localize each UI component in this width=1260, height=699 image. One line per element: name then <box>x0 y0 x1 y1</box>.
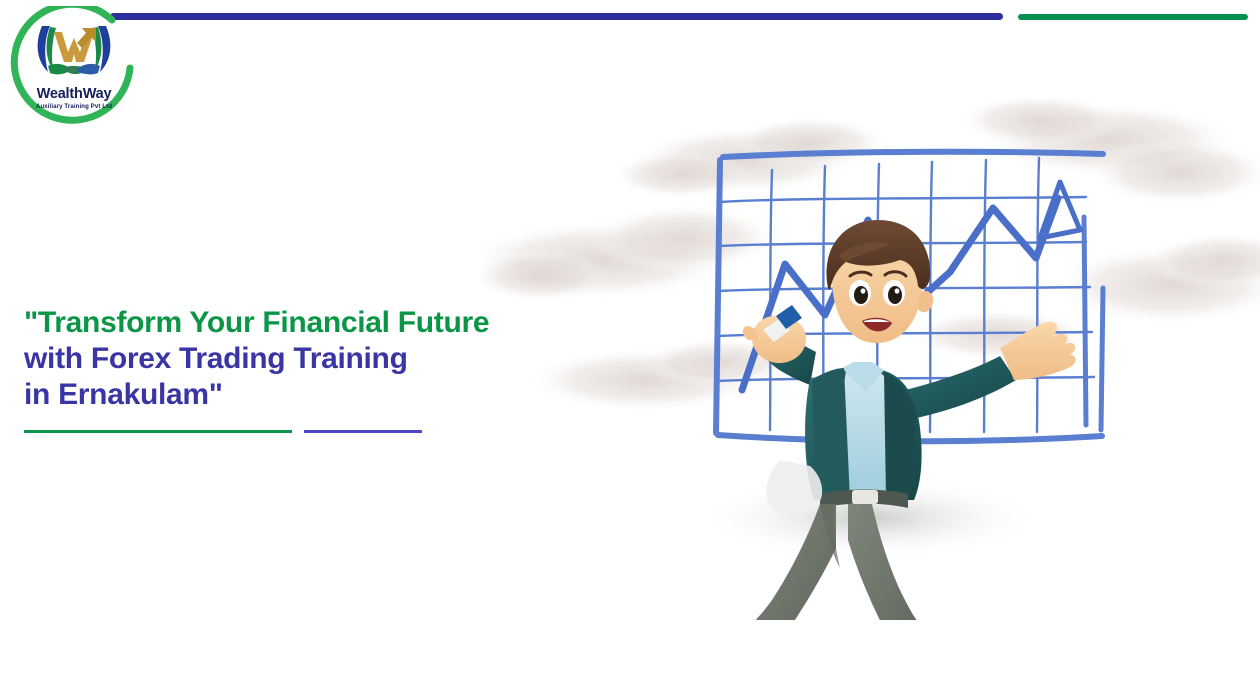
logo-tagline: Auxiliary Training Pvt Ltd <box>22 104 126 110</box>
top-rule-green <box>1018 14 1248 20</box>
logo-wordmark-part1: Wealth <box>37 86 83 102</box>
headline-line-3: in Ernakulam" <box>24 377 644 413</box>
underline-green <box>24 430 292 433</box>
logo-wordmark: WealthWay <box>22 87 126 102</box>
promo-banner: WealthWay Auxiliary Training Pvt Ltd "Tr… <box>0 0 1260 699</box>
headline-line-2: with Forex Trading Training <box>24 341 644 377</box>
headline: "Transform Your Financial Future with Fo… <box>24 305 644 413</box>
underline-indigo <box>304 430 422 433</box>
headline-line-1: "Transform Your Financial Future <box>24 305 644 341</box>
logo-wordmark-part2: Way <box>83 86 112 102</box>
headline-underlines <box>24 430 444 434</box>
top-rule-blue <box>110 13 1003 20</box>
brand-logo[interactable]: WealthWay Auxiliary Training Pvt Ltd <box>8 6 140 134</box>
w-arrow-handshake-logo-icon <box>22 14 126 86</box>
